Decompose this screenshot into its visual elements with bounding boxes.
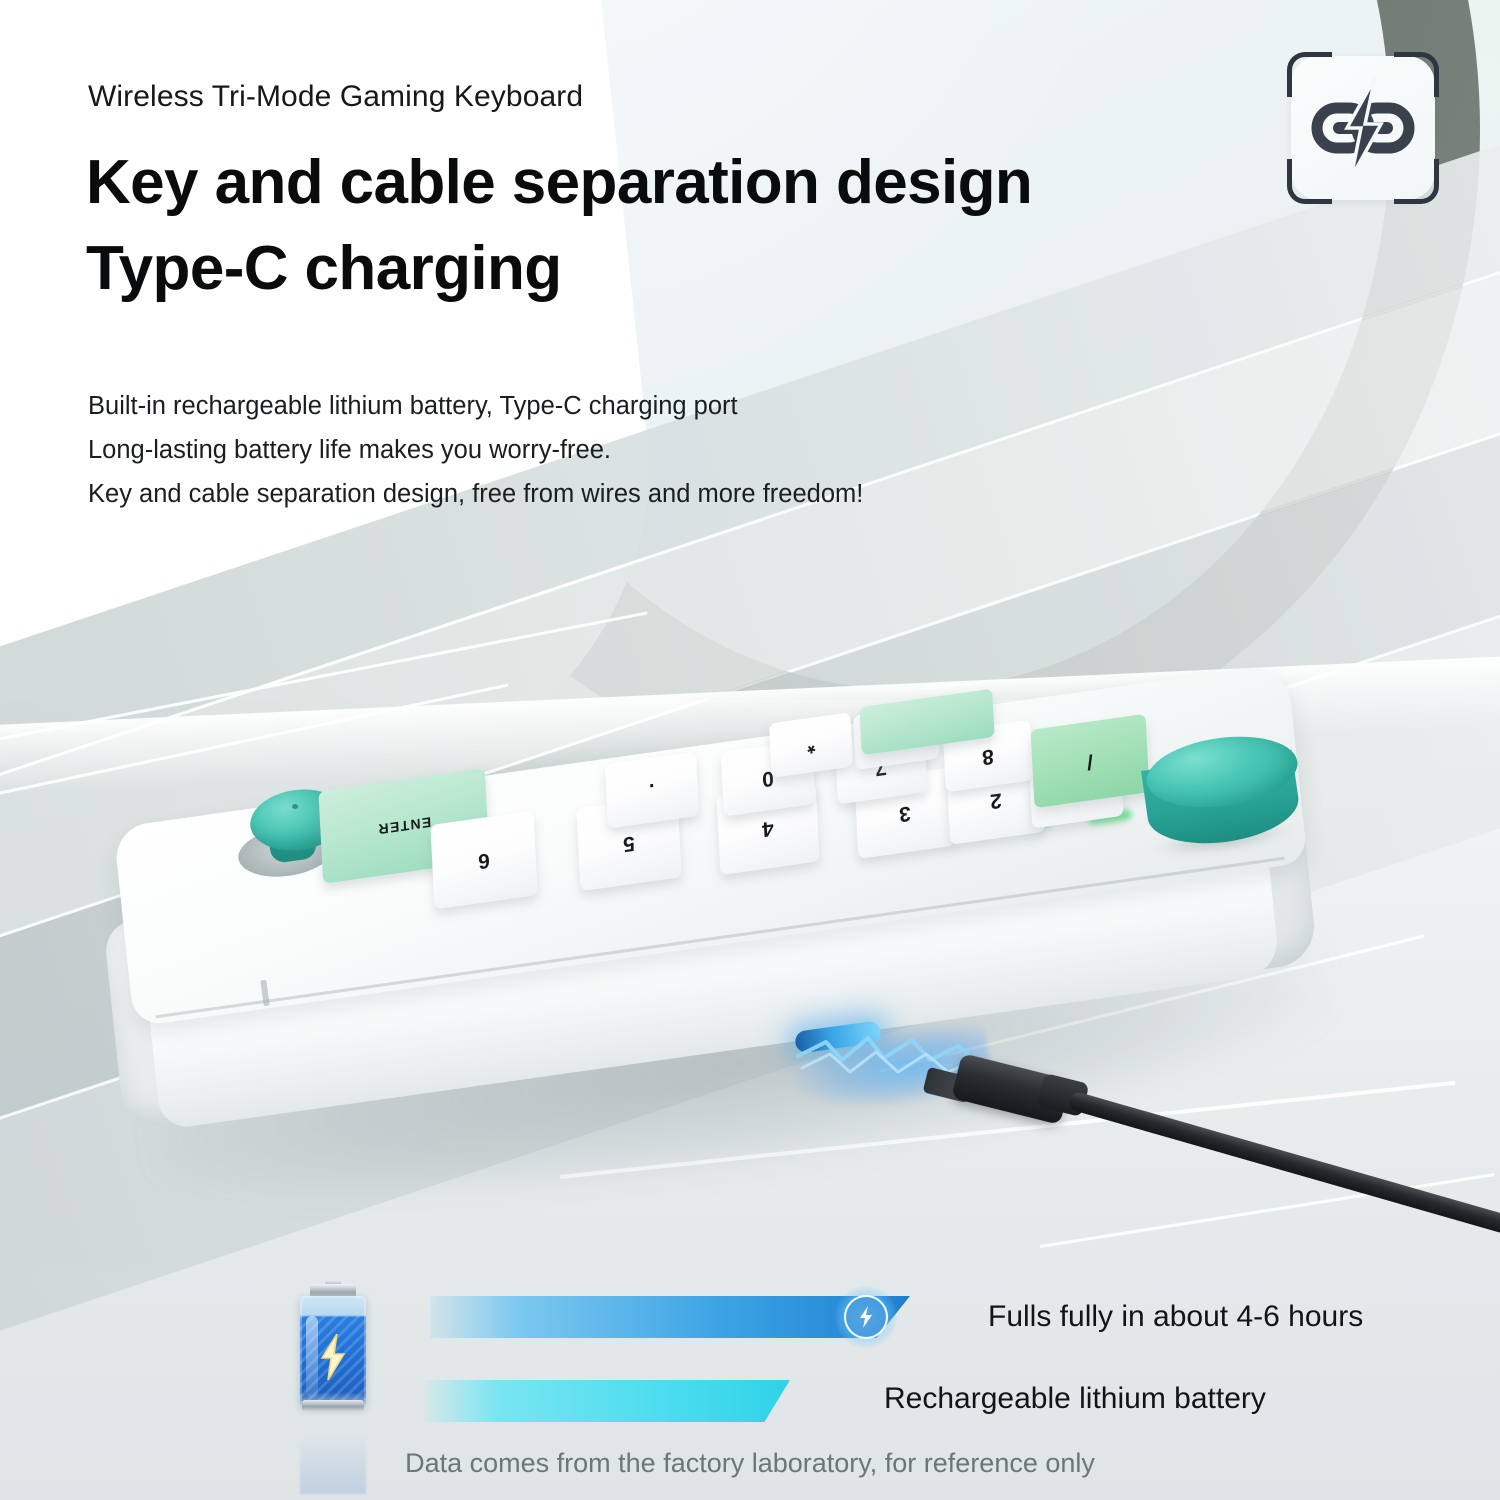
keycap-legend: 5 — [623, 830, 636, 856]
headline-line-1: Key and cable separation design — [86, 140, 1266, 226]
body-line-3: Key and cable separation design, free fr… — [88, 473, 1188, 517]
body-line-2: Long-lasting battery life makes you worr… — [88, 429, 1188, 473]
battery-bottom-cap — [302, 1400, 364, 1411]
keycap-slash[interactable]: / — [1031, 714, 1150, 808]
brand-logo-badge — [1283, 48, 1443, 208]
keycap-legend: 2 — [990, 787, 1003, 813]
keycap-asterisk[interactable]: * — [769, 712, 853, 778]
keycap-6[interactable]: 6 — [430, 811, 537, 910]
keycap-period[interactable]: . — [605, 752, 699, 829]
headline-line-2: Type-C charging — [86, 226, 1266, 312]
page-title: Key and cable separation design Type-C c… — [86, 140, 1266, 311]
info-label-charge-time: Fulls fully in about 4-6 hours — [988, 1300, 1363, 1334]
keycap-legend: . — [648, 778, 655, 803]
body-line-1: Built-in rechargeable lithium battery, T… — [88, 385, 1188, 429]
bolt-icon — [858, 1306, 874, 1328]
chain-link-lightning-icon — [1307, 74, 1419, 182]
keycap-legend: * — [806, 732, 815, 757]
battery-type-bar — [425, 1380, 790, 1422]
keycap-legend: 4 — [762, 815, 775, 841]
keycap-legend: 8 — [982, 743, 995, 769]
info-label-battery-type: Rechargeable lithium battery — [884, 1382, 1266, 1416]
rechargeable-battery-icon — [296, 1280, 370, 1420]
keycap-legend: / — [1086, 749, 1093, 774]
keycap-legend: 6 — [478, 847, 491, 873]
keycap-legend: 3 — [899, 800, 912, 826]
battery-gloss — [306, 1316, 318, 1398]
keypad-product-photo: ENTER 6 5 4 3 2 1 . 0 7 8 — [0, 640, 1500, 1280]
keycap-legend: ENTER — [377, 814, 432, 838]
battery-lightning-bolt-icon — [318, 1334, 348, 1380]
product-marketing-banner: Wireless Tri-Mode Gaming Keyboard Key an… — [0, 0, 1500, 1500]
body-copy: Built-in rechargeable lithium battery, T… — [88, 385, 1188, 517]
charge-badge — [835, 1286, 897, 1348]
eyebrow-text: Wireless Tri-Mode Gaming Keyboard — [88, 80, 583, 114]
joystick-center-dot — [292, 804, 298, 809]
charge-badge-ring — [844, 1295, 888, 1339]
disclaimer-text: Data comes from the factory laboratory, … — [0, 1448, 1500, 1479]
